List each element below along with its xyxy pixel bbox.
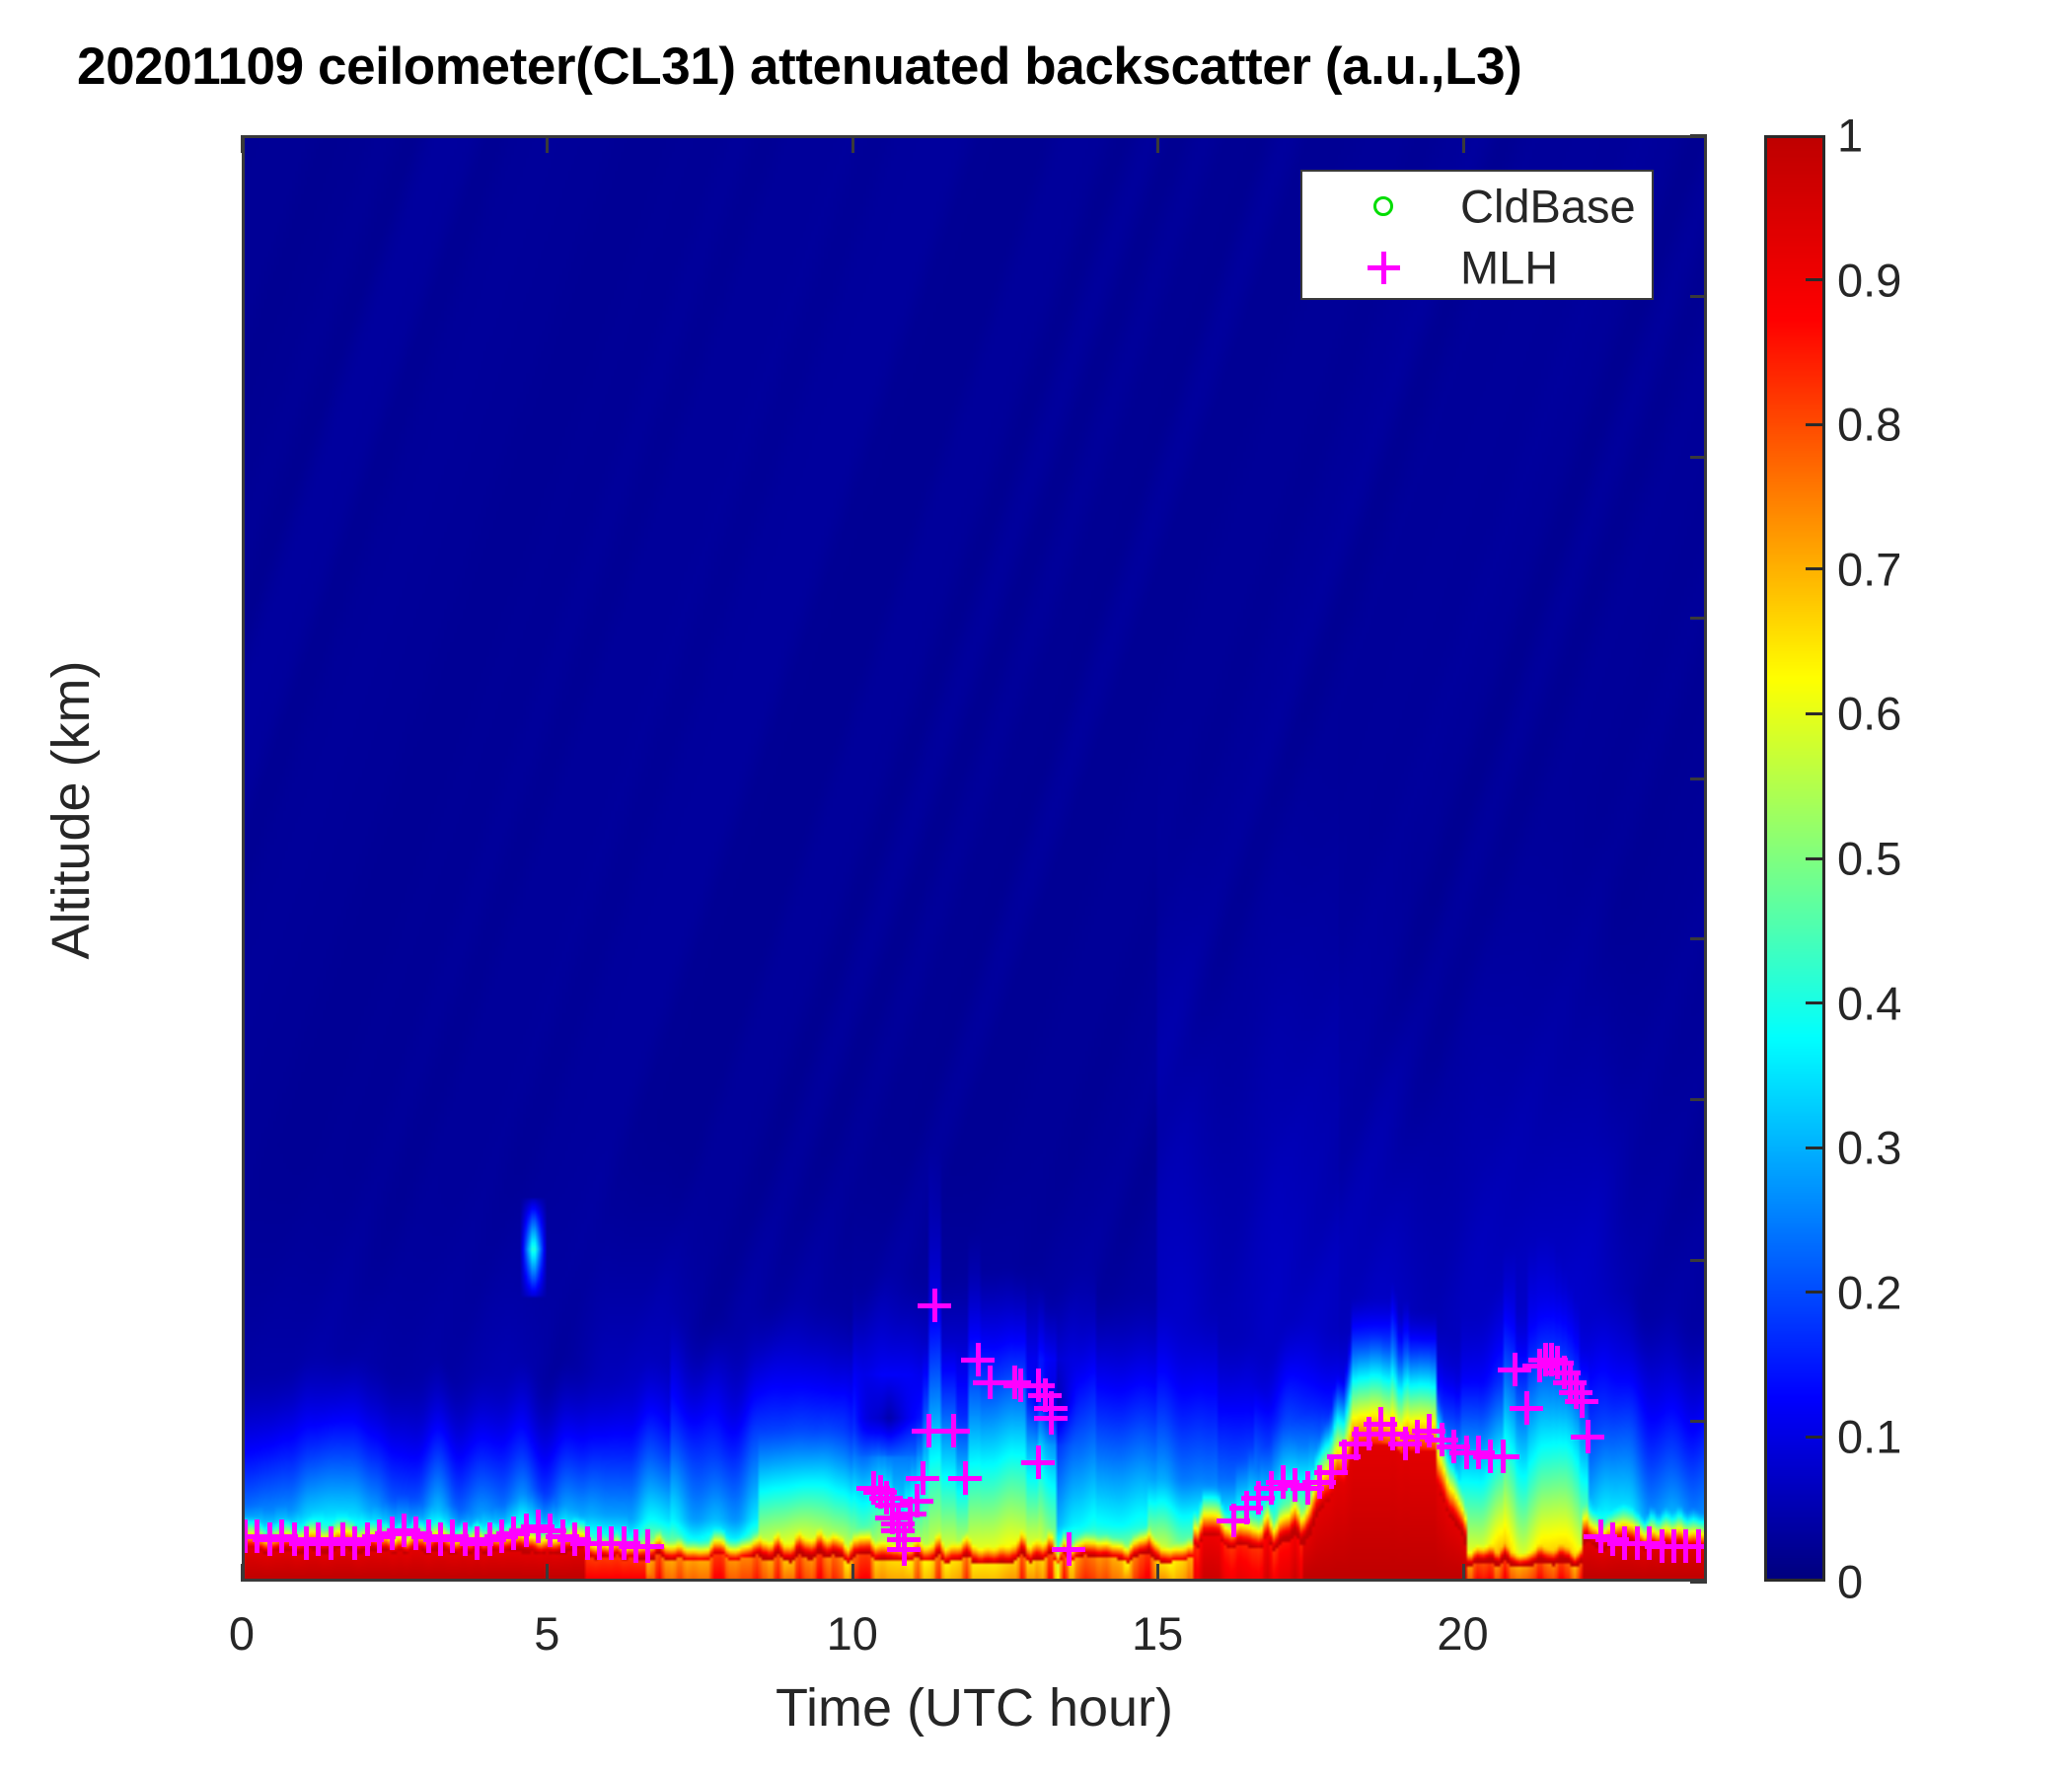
x-tick-mark-top [851, 135, 854, 153]
x-tick-label: 0 [229, 1606, 255, 1661]
x-tick-label: 20 [1437, 1606, 1488, 1661]
colorbar-tick-label: 1 [1837, 109, 1863, 163]
y-tick-mark-right [1690, 617, 1707, 620]
legend-label-cldbase: CldBase [1460, 180, 1636, 234]
mlh-marker-layer [245, 138, 1704, 1579]
mlh-marker [887, 1532, 921, 1566]
mlh-marker [1486, 1440, 1519, 1473]
x-tick-mark-top [1462, 135, 1465, 153]
circle-icon [1364, 186, 1403, 226]
colorbar-tick-label: 0 [1837, 1555, 1863, 1609]
mlh-marker [906, 1461, 939, 1495]
mlh-marker [1510, 1391, 1543, 1425]
backscatter-heatmap [245, 138, 1704, 1579]
colorbar-tick-mark [1806, 423, 1822, 426]
legend-item-mlh: MLH [1302, 237, 1652, 298]
y-tick-mark-right [1690, 456, 1707, 459]
colorbar-tick-mark [1806, 857, 1822, 860]
colorbar-tick-label: 0.7 [1837, 542, 1901, 596]
colorbar-tick-mark [1806, 712, 1822, 715]
mlh-marker [1034, 1401, 1068, 1435]
colorbar-tick-mark [1806, 1436, 1822, 1439]
legend-label-mlh: MLH [1460, 241, 1558, 295]
colorbar-tick-label: 0.4 [1837, 976, 1901, 1030]
x-tick-mark [1156, 1564, 1159, 1582]
x-tick-label: 10 [827, 1606, 878, 1661]
colorbar-tick-label: 0.6 [1837, 687, 1901, 741]
mlh-marker [1052, 1532, 1085, 1566]
y-tick-mark-right [1690, 1259, 1707, 1262]
mlh-marker [630, 1529, 664, 1563]
x-tick-mark-top [546, 135, 549, 153]
mlh-marker [948, 1461, 982, 1495]
colorbar-tick-label: 0.2 [1837, 1265, 1901, 1319]
colorbar-tick-label: 0.5 [1837, 832, 1901, 886]
x-tick-mark [1462, 1564, 1465, 1582]
mlh-marker [936, 1414, 970, 1447]
x-tick-label: 15 [1132, 1606, 1183, 1661]
colorbar-tick-mark [1806, 1001, 1822, 1004]
colorbar-tick-label: 0.1 [1837, 1410, 1901, 1464]
legend-item-cldbase: CldBase [1302, 176, 1652, 237]
y-tick-mark-right [1690, 295, 1707, 298]
mlh-marker [1693, 1529, 1707, 1563]
colorbar-tick-mark [1806, 1147, 1822, 1149]
x-tick-mark [851, 1564, 854, 1582]
mlh-marker [1565, 1384, 1598, 1418]
x-tick-mark [241, 1564, 244, 1582]
legend: CldBase MLH [1300, 170, 1654, 300]
colorbar-tick-label: 0.9 [1837, 253, 1901, 307]
colorbar-tick-mark [1806, 1291, 1822, 1294]
colorbar-tick-mark [1806, 278, 1822, 281]
y-tick-mark-right [1690, 134, 1707, 137]
mlh-marker [918, 1289, 951, 1322]
colorbar-tick-label: 0.3 [1837, 1121, 1901, 1175]
plot-area [242, 135, 1707, 1582]
y-tick-mark-right [1690, 1581, 1707, 1584]
page-title: 20201109 ceilometer(CL31) attenuated bac… [77, 37, 2011, 97]
x-tick-mark [546, 1564, 549, 1582]
x-tick-label: 5 [534, 1606, 559, 1661]
mlh-marker [1571, 1420, 1604, 1453]
colorbar-tick-mark [1806, 567, 1822, 570]
x-axis-label: Time (UTC hour) [242, 1677, 1707, 1739]
y-tick-mark-right [1690, 1420, 1707, 1423]
colorbar-tick-label: 0.8 [1837, 398, 1901, 452]
y-tick-mark-right [1690, 777, 1707, 780]
y-axis-label: Altitude (km) [40, 534, 102, 1086]
x-tick-mark-top [1156, 135, 1159, 153]
ceilometer-backscatter-figure: 20201109 ceilometer(CL31) attenuated bac… [0, 0, 2072, 1776]
y-tick-mark-right [1690, 1098, 1707, 1101]
plus-icon [1364, 248, 1403, 287]
y-tick-mark-right [1690, 937, 1707, 940]
x-tick-mark-top [241, 135, 244, 153]
mlh-marker [1021, 1445, 1055, 1479]
